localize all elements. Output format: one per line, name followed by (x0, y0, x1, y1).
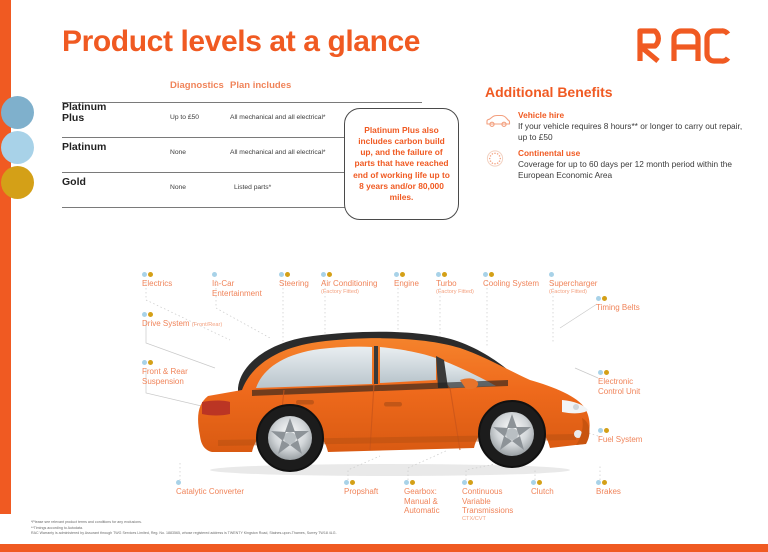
part-label-text: Steering (279, 279, 309, 289)
car-icon (485, 112, 511, 129)
coverage-dots (598, 370, 610, 376)
benefit-item-continental-use: Continental use Coverage for up to 60 da… (485, 148, 750, 181)
coverage-dots (142, 312, 154, 318)
part-label-text: Electronic Control Unit (598, 377, 660, 396)
part-label-text: Turbo(Factory Fitted) (436, 279, 474, 296)
cell-diagnostics: None (170, 184, 186, 191)
part-label-text: Engine (394, 279, 419, 289)
column-header-diagnostics: Diagnostics (170, 80, 224, 91)
part-name: Continuous Variable Transmissions (462, 487, 513, 515)
benefit-item-vehicle-hire: Vehicle hire If your vehicle requires 8 … (485, 110, 750, 143)
part-sublabel: (Factory Fitted) (549, 289, 597, 296)
cell-plan-includes: Listed parts* (234, 184, 271, 191)
coverage-dots (142, 360, 154, 366)
coverage-dots (279, 272, 291, 278)
part-label-text: Front & Rear Suspension (142, 367, 200, 386)
coverage-dots (596, 480, 608, 486)
level-line-2: Plus (62, 112, 84, 124)
level-dot-platinum (1, 131, 34, 164)
coverage-dots (212, 272, 218, 278)
rac-logo (636, 26, 732, 64)
part-label-text: Drive System (Front/Rear) (142, 319, 222, 331)
car-illustration (178, 318, 602, 483)
part-name: Drive System (142, 319, 190, 328)
part-sublabel: (Factory Fitted) (436, 289, 474, 296)
cell-diagnostics: Up to £50 (170, 114, 199, 121)
level-name-gold: Gold (62, 177, 86, 188)
part-label-text: Continuous Variable TransmissionsCTX/CVT (462, 487, 528, 523)
part-label-text: Supercharger(Factory Fitted) (549, 279, 597, 296)
coverage-dots (483, 272, 495, 278)
coverage-dots (344, 480, 356, 486)
level-name-platinum: Platinum (62, 142, 106, 153)
platinum-plus-callout: Platinum Plus also includes carbon build… (344, 108, 459, 220)
coverage-dots (142, 272, 154, 278)
part-name: Air Conditioning (321, 279, 377, 288)
vehicle-parts-diagram: Electrics In-Car Entertainment Steering … (0, 248, 768, 516)
coverage-dots (394, 272, 406, 278)
coverage-dots (598, 428, 610, 434)
part-label-text: Brakes (596, 487, 621, 497)
level-dot-gold (1, 166, 34, 199)
callout-text: Platinum Plus also includes carbon build… (345, 125, 458, 203)
part-label-text: Electrics (142, 279, 172, 289)
part-sublabel: (Factory Fitted) (321, 289, 377, 296)
part-sublabel: (Front/Rear) (192, 322, 222, 328)
cell-plan-includes: All mechanical and all electrical* (230, 114, 326, 121)
benefit-body: If your vehicle requires 8 hours** or lo… (518, 121, 750, 143)
part-name: Supercharger (549, 279, 597, 288)
part-label-text: Clutch (531, 487, 554, 497)
footer-disclaimer: *Please see relevant product terms and c… (31, 520, 691, 536)
page-title: Product levels at a glance (62, 25, 420, 59)
part-label-text: Air Conditioning(Factory Fitted) (321, 279, 377, 296)
cell-diagnostics: None (170, 149, 186, 156)
cell-plan-includes: All mechanical and all electrical* (230, 149, 326, 156)
benefit-body: Coverage for up to 60 days per 12 month … (518, 159, 750, 181)
level-dot-platinum-plus (1, 96, 34, 129)
coverage-dots (321, 272, 333, 278)
part-name: Turbo (436, 279, 457, 288)
coverage-dots (596, 296, 608, 302)
bottom-accent-bar (0, 544, 768, 552)
coverage-dots (549, 272, 555, 278)
coverage-dots (531, 480, 543, 486)
part-label-text: Cooling System (483, 279, 539, 289)
coverage-dots (404, 480, 416, 486)
part-label-text: Timing Belts (596, 303, 640, 313)
part-label-text: Gearbox: Manual & Automatic (404, 487, 448, 516)
table-header-row: Diagnostics Plan includes (62, 80, 422, 102)
benefit-heading: Vehicle hire (518, 110, 750, 121)
coverage-dots (436, 272, 448, 278)
additional-benefits-title: Additional Benefits (485, 84, 613, 100)
part-label-text: Fuel System (598, 435, 642, 445)
coverage-dots (176, 480, 182, 486)
eu-stars-icon (485, 150, 511, 167)
level-name-platinum-plus: Platinum Plus (62, 102, 106, 124)
column-header-plan-includes: Plan includes (230, 80, 291, 91)
coverage-dots (462, 480, 474, 486)
benefit-heading: Continental use (518, 148, 750, 159)
infographic-page: Product levels at a glance Diagnostics P… (0, 0, 768, 552)
part-label-text: Propshaft (344, 487, 378, 497)
part-label-text: Catalytic Converter (176, 487, 244, 497)
part-label-text: In-Car Entertainment (212, 279, 274, 298)
footer-line-3: RAC Warranty is administered by Assurant… (31, 531, 691, 536)
